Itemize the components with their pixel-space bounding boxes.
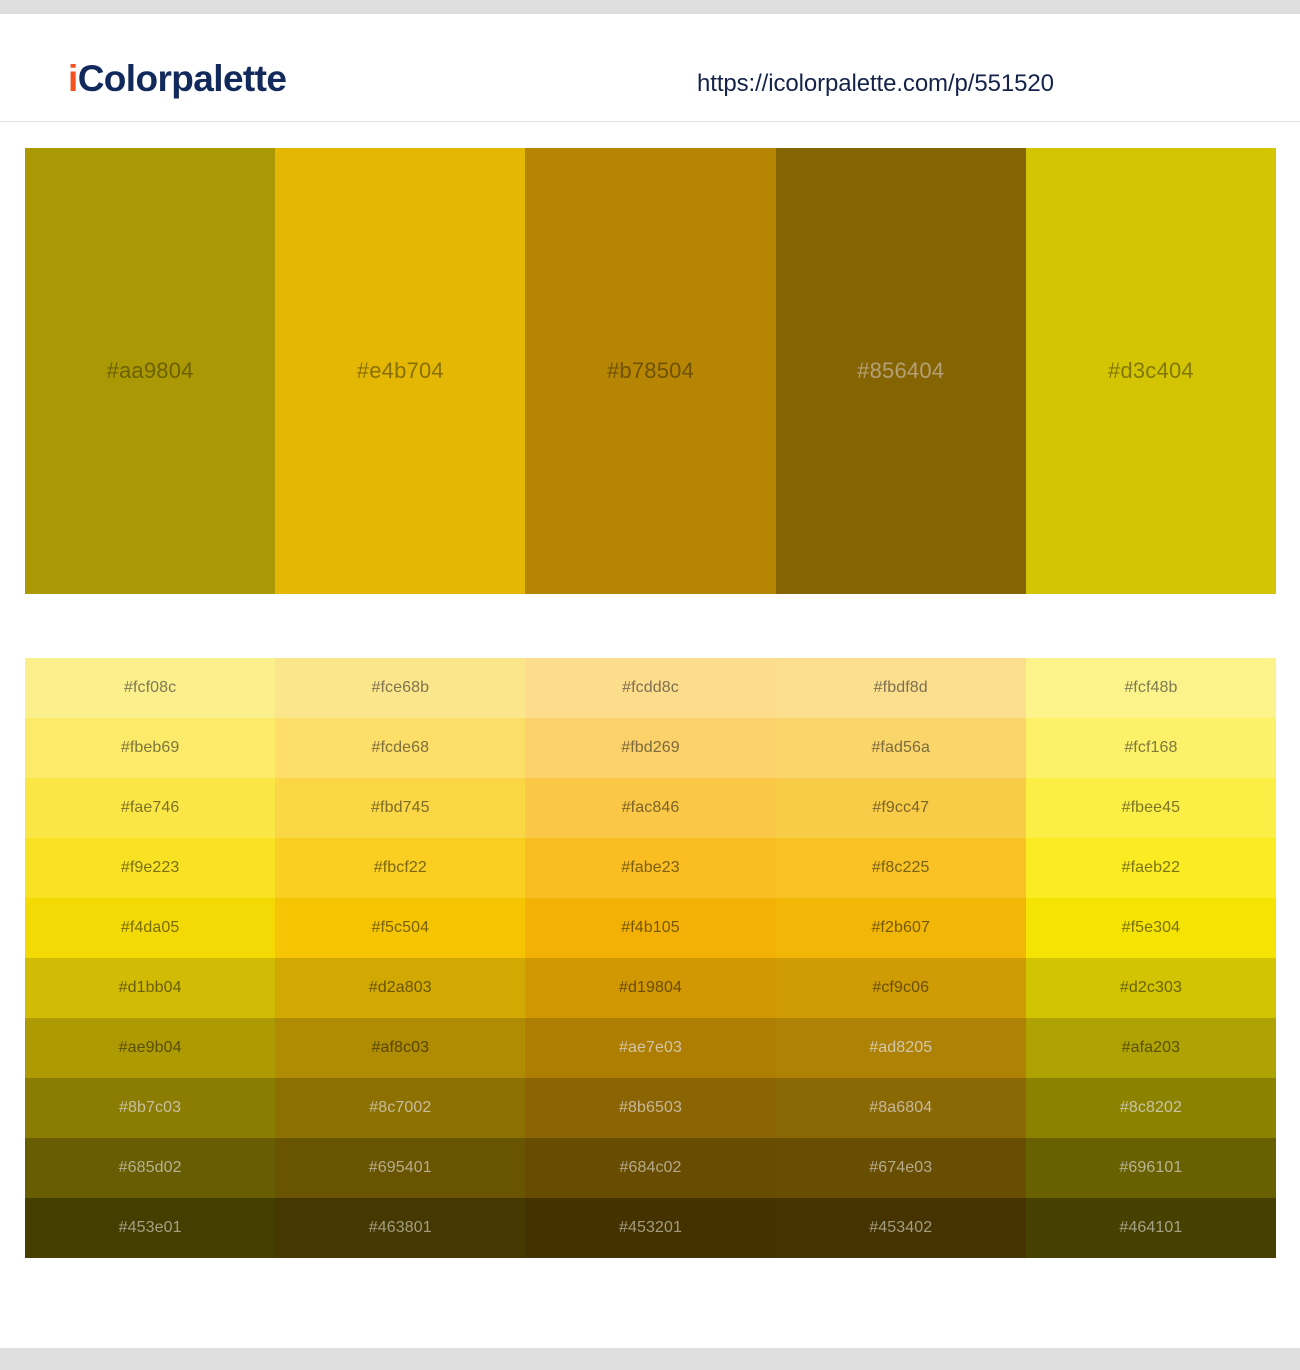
shade-cell[interactable]: #8c8202 <box>1026 1078 1276 1138</box>
shade-cell[interactable]: #fbd269 <box>525 718 775 778</box>
browser-bottom-strip <box>0 1348 1300 1370</box>
palette-swatch-hex-label: #856404 <box>857 360 944 382</box>
shade-hex-label: #f4b105 <box>621 920 680 936</box>
palette-swatch[interactable]: #856404 <box>776 148 1026 594</box>
shade-hex-label: #d1bb04 <box>119 980 182 996</box>
shade-row: #fcf08c#fce68b#fcdd8c#fbdf8d#fcf48b <box>25 658 1276 718</box>
shade-cell[interactable]: #fcf08c <box>25 658 275 718</box>
shade-cell[interactable]: #cf9c06 <box>776 958 1026 1018</box>
page-url: https://icolorpalette.com/p/551520 <box>697 70 1054 98</box>
shade-cell[interactable]: #faeb22 <box>1026 838 1276 898</box>
shade-cell[interactable]: #695401 <box>275 1138 525 1198</box>
shade-cell[interactable]: #f5e304 <box>1026 898 1276 958</box>
shade-cell[interactable]: #ae7e03 <box>525 1018 775 1078</box>
shade-row: #fae746#fbd745#fac846#f9cc47#fbee45 <box>25 778 1276 838</box>
logo-i-letter: i <box>68 58 78 99</box>
shade-cell[interactable]: #afa203 <box>1026 1018 1276 1078</box>
shade-hex-label: #453e01 <box>119 1220 182 1236</box>
shade-cell[interactable]: #685d02 <box>25 1138 275 1198</box>
shade-row: #8b7c03#8c7002#8b6503#8a6804#8c8202 <box>25 1078 1276 1138</box>
shade-hex-label: #cf9c06 <box>872 980 929 996</box>
shade-cell[interactable]: #fbdf8d <box>776 658 1026 718</box>
shade-hex-label: #fcf168 <box>1124 740 1177 756</box>
shade-hex-label: #fad56a <box>871 740 930 756</box>
shade-cell[interactable]: #453e01 <box>25 1198 275 1258</box>
shade-hex-label: #fac846 <box>622 800 680 816</box>
shade-row: #d1bb04#d2a803#d19804#cf9c06#d2c303 <box>25 958 1276 1018</box>
shade-cell[interactable]: #453402 <box>776 1198 1026 1258</box>
shade-hex-label: #8a6804 <box>869 1100 932 1116</box>
shade-cell[interactable]: #fbd745 <box>275 778 525 838</box>
shade-hex-label: #afa203 <box>1122 1040 1181 1056</box>
shade-cell[interactable]: #8b6503 <box>525 1078 775 1138</box>
shade-cell[interactable]: #fcf48b <box>1026 658 1276 718</box>
shade-hex-label: #463801 <box>369 1220 432 1236</box>
shade-cell[interactable]: #ae9b04 <box>25 1018 275 1078</box>
palette-swatch[interactable]: #e4b704 <box>275 148 525 594</box>
shade-hex-label: #fae746 <box>121 800 180 816</box>
page-root: iColorpalette https://icolorpalette.com/… <box>0 0 1300 1370</box>
shade-hex-label: #8c7002 <box>369 1100 431 1116</box>
shade-hex-label: #674e03 <box>869 1160 932 1176</box>
shade-cell[interactable]: #fae746 <box>25 778 275 838</box>
shade-hex-label: #f5c504 <box>371 920 429 936</box>
shade-cell[interactable]: #af8c03 <box>275 1018 525 1078</box>
shade-hex-label: #ae9b04 <box>119 1040 182 1056</box>
shade-cell[interactable]: #684c02 <box>525 1138 775 1198</box>
shade-hex-label: #faeb22 <box>1122 860 1181 876</box>
shade-cell[interactable]: #f9e223 <box>25 838 275 898</box>
shade-cell[interactable]: #fad56a <box>776 718 1026 778</box>
shade-row: #453e01#463801#453201#453402#464101 <box>25 1198 1276 1258</box>
shade-hex-label: #fbee45 <box>1122 800 1181 816</box>
shade-hex-label: #ae7e03 <box>619 1040 682 1056</box>
site-logo[interactable]: iColorpalette <box>68 60 286 97</box>
shade-cell[interactable]: #453201 <box>525 1198 775 1258</box>
shade-cell[interactable]: #fbeb69 <box>25 718 275 778</box>
shade-hex-label: #fcf48b <box>1124 680 1177 696</box>
shade-hex-label: #453201 <box>619 1220 682 1236</box>
palette-swatch-hex-label: #d3c404 <box>1108 360 1194 382</box>
shade-cell[interactable]: #f4b105 <box>525 898 775 958</box>
shade-hex-label: #fbd745 <box>371 800 430 816</box>
shade-hex-label: #fbdf8d <box>874 680 928 696</box>
shade-hex-label: #685d02 <box>119 1160 182 1176</box>
shade-cell[interactable]: #fcf168 <box>1026 718 1276 778</box>
shade-cell[interactable]: #d1bb04 <box>25 958 275 1018</box>
shade-cell[interactable]: #fcdd8c <box>525 658 775 718</box>
shade-hex-label: #8b6503 <box>619 1100 682 1116</box>
shade-hex-label: #8c8202 <box>1120 1100 1182 1116</box>
shade-cell[interactable]: #fabe23 <box>525 838 775 898</box>
shade-hex-label: #fbeb69 <box>121 740 180 756</box>
shade-hex-label: #696101 <box>1119 1160 1182 1176</box>
browser-top-strip <box>0 0 1300 14</box>
main-palette-strip: #aa9804#e4b704#b78504#856404#d3c404 <box>25 148 1276 594</box>
shade-row: #ae9b04#af8c03#ae7e03#ad8205#afa203 <box>25 1018 1276 1078</box>
shade-cell[interactable]: #f2b607 <box>776 898 1026 958</box>
shade-hex-label: #af8c03 <box>371 1040 429 1056</box>
shade-hex-label: #684c02 <box>619 1160 681 1176</box>
shade-cell[interactable]: #d2a803 <box>275 958 525 1018</box>
shade-hex-label: #fabe23 <box>621 860 680 876</box>
shade-cell[interactable]: #fcde68 <box>275 718 525 778</box>
shade-hex-label: #f2b607 <box>871 920 930 936</box>
shade-hex-label: #d2a803 <box>369 980 432 996</box>
shade-cell[interactable]: #f4da05 <box>25 898 275 958</box>
shade-hex-label: #fce68b <box>371 680 429 696</box>
shade-hex-label: #f4da05 <box>121 920 180 936</box>
palette-swatch[interactable]: #b78504 <box>525 148 775 594</box>
palette-swatch[interactable]: #d3c404 <box>1026 148 1276 594</box>
shade-cell[interactable]: #f8c225 <box>776 838 1026 898</box>
shade-cell[interactable]: #8c7002 <box>275 1078 525 1138</box>
shade-hex-label: #464101 <box>1119 1220 1182 1236</box>
shade-row: #fbeb69#fcde68#fbd269#fad56a#fcf168 <box>25 718 1276 778</box>
shade-cell[interactable]: #464101 <box>1026 1198 1276 1258</box>
shade-hex-label: #d2c303 <box>1120 980 1182 996</box>
shade-cell[interactable]: #8a6804 <box>776 1078 1026 1138</box>
shade-hex-label: #f9e223 <box>121 860 180 876</box>
shade-hex-label: #f8c225 <box>872 860 930 876</box>
shade-row: #f4da05#f5c504#f4b105#f2b607#f5e304 <box>25 898 1276 958</box>
shades-grid: #fcf08c#fce68b#fcdd8c#fbdf8d#fcf48b#fbeb… <box>25 658 1276 1258</box>
shade-hex-label: #fbd269 <box>621 740 680 756</box>
shade-cell[interactable]: #fce68b <box>275 658 525 718</box>
shade-cell[interactable]: #8b7c03 <box>25 1078 275 1138</box>
shade-cell[interactable]: #d19804 <box>525 958 775 1018</box>
shade-hex-label: #8b7c03 <box>119 1100 181 1116</box>
shade-hex-label: #ad8205 <box>869 1040 932 1056</box>
shade-cell[interactable]: #fbcf22 <box>275 838 525 898</box>
shade-hex-label: #fcde68 <box>371 740 429 756</box>
palette-swatch-hex-label: #b78504 <box>607 360 694 382</box>
shade-cell[interactable]: #fbee45 <box>1026 778 1276 838</box>
shade-hex-label: #f5e304 <box>1122 920 1181 936</box>
shade-hex-label: #453402 <box>869 1220 932 1236</box>
palette-swatch-hex-label: #aa9804 <box>107 360 194 382</box>
shade-cell[interactable]: #f5c504 <box>275 898 525 958</box>
shade-cell[interactable]: #f9cc47 <box>776 778 1026 838</box>
shade-cell[interactable]: #674e03 <box>776 1138 1026 1198</box>
logo-wordmark: Colorpalette <box>78 58 287 99</box>
shade-hex-label: #fbcf22 <box>374 860 427 876</box>
shade-row: #f9e223#fbcf22#fabe23#f8c225#faeb22 <box>25 838 1276 898</box>
shade-cell[interactable]: #696101 <box>1026 1138 1276 1198</box>
shade-hex-label: #f9cc47 <box>872 800 929 816</box>
shade-hex-label: #695401 <box>369 1160 432 1176</box>
shade-hex-label: #fcdd8c <box>622 680 679 696</box>
site-header: iColorpalette https://icolorpalette.com/… <box>0 14 1300 122</box>
shade-row: #685d02#695401#684c02#674e03#696101 <box>25 1138 1276 1198</box>
shade-cell[interactable]: #463801 <box>275 1198 525 1258</box>
shade-hex-label: #d19804 <box>619 980 682 996</box>
palette-swatch[interactable]: #aa9804 <box>25 148 275 594</box>
shade-hex-label: #fcf08c <box>124 680 176 696</box>
palette-swatch-hex-label: #e4b704 <box>357 360 444 382</box>
shade-cell[interactable]: #fac846 <box>525 778 775 838</box>
shade-cell[interactable]: #d2c303 <box>1026 958 1276 1018</box>
shade-cell[interactable]: #ad8205 <box>776 1018 1026 1078</box>
